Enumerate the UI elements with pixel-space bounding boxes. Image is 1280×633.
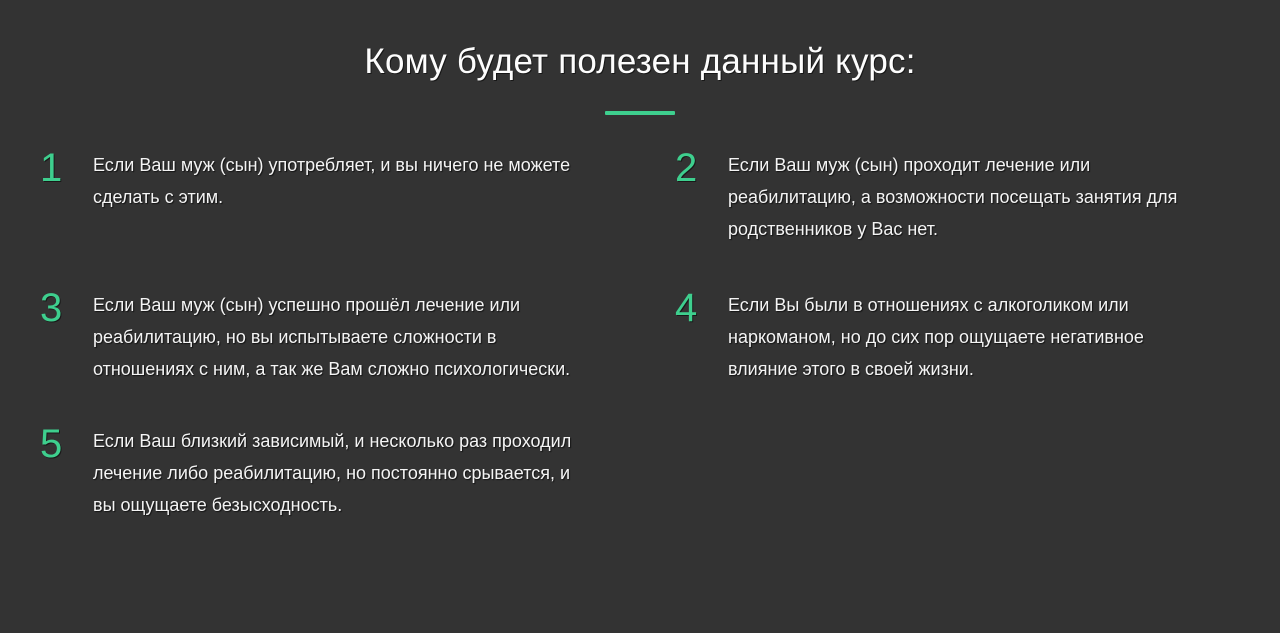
list-item: 4 Если Вы были в отношениях с алкоголико…: [675, 289, 1280, 385]
list-item: 1 Если Ваш муж (сын) употребляет, и вы н…: [40, 149, 645, 245]
item-text: Если Ваш муж (сын) успешно прошёл лечени…: [93, 289, 593, 385]
list-item: 3 Если Ваш муж (сын) успешно прошёл лече…: [40, 289, 645, 385]
item-number: 5: [40, 425, 93, 461]
item-number: 1: [40, 149, 93, 185]
list-item: 2 Если Ваш муж (сын) проходит лечение ил…: [675, 149, 1280, 245]
audience-items-grid: 1 Если Ваш муж (сын) употребляет, и вы н…: [0, 149, 1280, 561]
item-number: 4: [675, 289, 728, 325]
course-audience-section: Кому будет полезен данный курс: 1 Если В…: [0, 0, 1280, 633]
item-text: Если Ваш близкий зависимый, и несколько …: [93, 425, 593, 521]
item-text: Если Ваш муж (сын) употребляет, и вы нич…: [93, 149, 593, 213]
section-header: Кому будет полезен данный курс:: [0, 0, 1280, 115]
page-title: Кому будет полезен данный курс:: [0, 40, 1280, 84]
title-divider: [605, 111, 675, 115]
item-text: Если Ваш муж (сын) проходит лечение или …: [728, 149, 1218, 245]
item-number: 3: [40, 289, 93, 325]
item-text: Если Вы были в отношениях с алкоголиком …: [728, 289, 1218, 385]
item-number: 2: [675, 149, 728, 185]
list-item: 5 Если Ваш близкий зависимый, и нескольк…: [40, 425, 645, 521]
